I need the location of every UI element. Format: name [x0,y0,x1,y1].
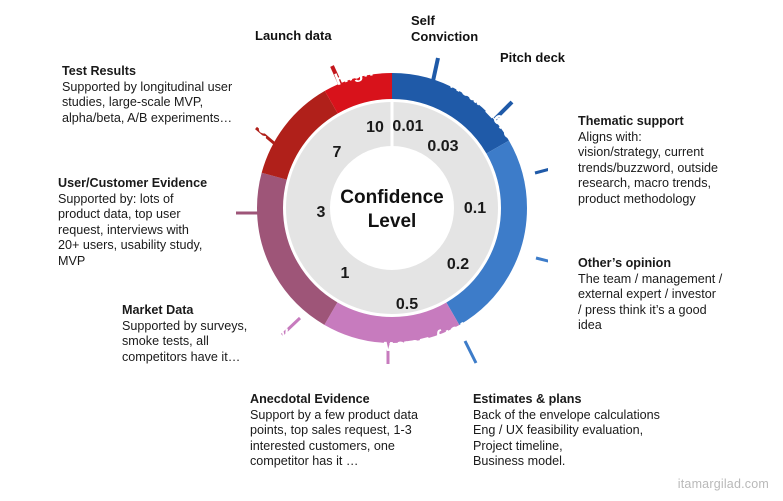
value-1: 1 [341,265,350,282]
value-0-03: 0.03 [427,138,458,155]
value-0-01: 0.01 [392,118,423,135]
leader-estimates [465,341,476,363]
wheel-hub [330,146,454,270]
callout-anecdotal-evidence: Anecdotal Evidence Support by a few prod… [250,392,466,470]
callout-anecdotal-evidence-title: Anecdotal Evidence [250,392,466,408]
confidence-level-diagram: Near-Zero Very Low Low Med-Low Medium Hi… [0,0,783,501]
callout-market-data-title: Market Data [122,303,298,319]
callout-others-opinion: Other’s opinion The team / management / … [578,256,774,334]
segment-label-low[interactable]: Low [381,336,418,357]
callout-others-opinion-title: Other’s opinion [578,256,774,272]
watermark: itamargilad.com [678,477,769,491]
callout-test-results: Test Results Supported by longitudinal u… [62,64,274,126]
value-7: 7 [333,144,342,161]
value-0-1: 0.1 [464,200,486,217]
value-0-2: 0.2 [447,256,469,273]
callout-user-customer-evidence-title: User/Customer Evidence [58,176,244,192]
callout-others-opinion-body: The team / management / external expert … [578,272,774,334]
leader-others-opinion [536,258,548,264]
callout-user-customer-evidence: User/Customer Evidence Supported by: lot… [58,176,244,270]
center-line-2: Level [368,211,417,232]
leader-self-conviction [433,58,438,81]
callout-market-data: Market Data Supported by surveys, smoke … [122,303,298,365]
tip-pitch-deck: Pitch deck [500,50,610,66]
callout-estimates-plans-title: Estimates & plans [473,392,707,408]
leader-thematic [535,167,548,173]
callout-market-data-body: Supported by surveys, smoke tests, all c… [122,319,298,366]
tip-launch-data: Launch data [255,28,375,44]
value-3: 3 [317,204,326,221]
callout-thematic-support: Thematic support Aligns with: vision/str… [578,114,774,208]
tip-self-conviction: Self Conviction [411,13,521,45]
callout-estimates-plans-body: Back of the envelope calculations Eng / … [473,408,707,470]
callout-test-results-body: Supported by longitudinal user studies, … [62,80,274,127]
value-10: 10 [366,119,384,136]
value-0-5: 0.5 [396,296,418,313]
callout-thematic-support-title: Thematic support [578,114,774,130]
callout-test-results-title: Test Results [62,64,274,80]
callout-thematic-support-body: Aligns with: vision/strategy, current tr… [578,130,774,208]
center-line-1: Confidence [340,187,443,208]
callout-anecdotal-evidence-body: Support by a few product data points, to… [250,408,466,470]
callout-user-customer-evidence-body: Supported by: lots of product data, top … [58,192,244,270]
callout-estimates-plans: Estimates & plans Back of the envelope c… [473,392,707,470]
